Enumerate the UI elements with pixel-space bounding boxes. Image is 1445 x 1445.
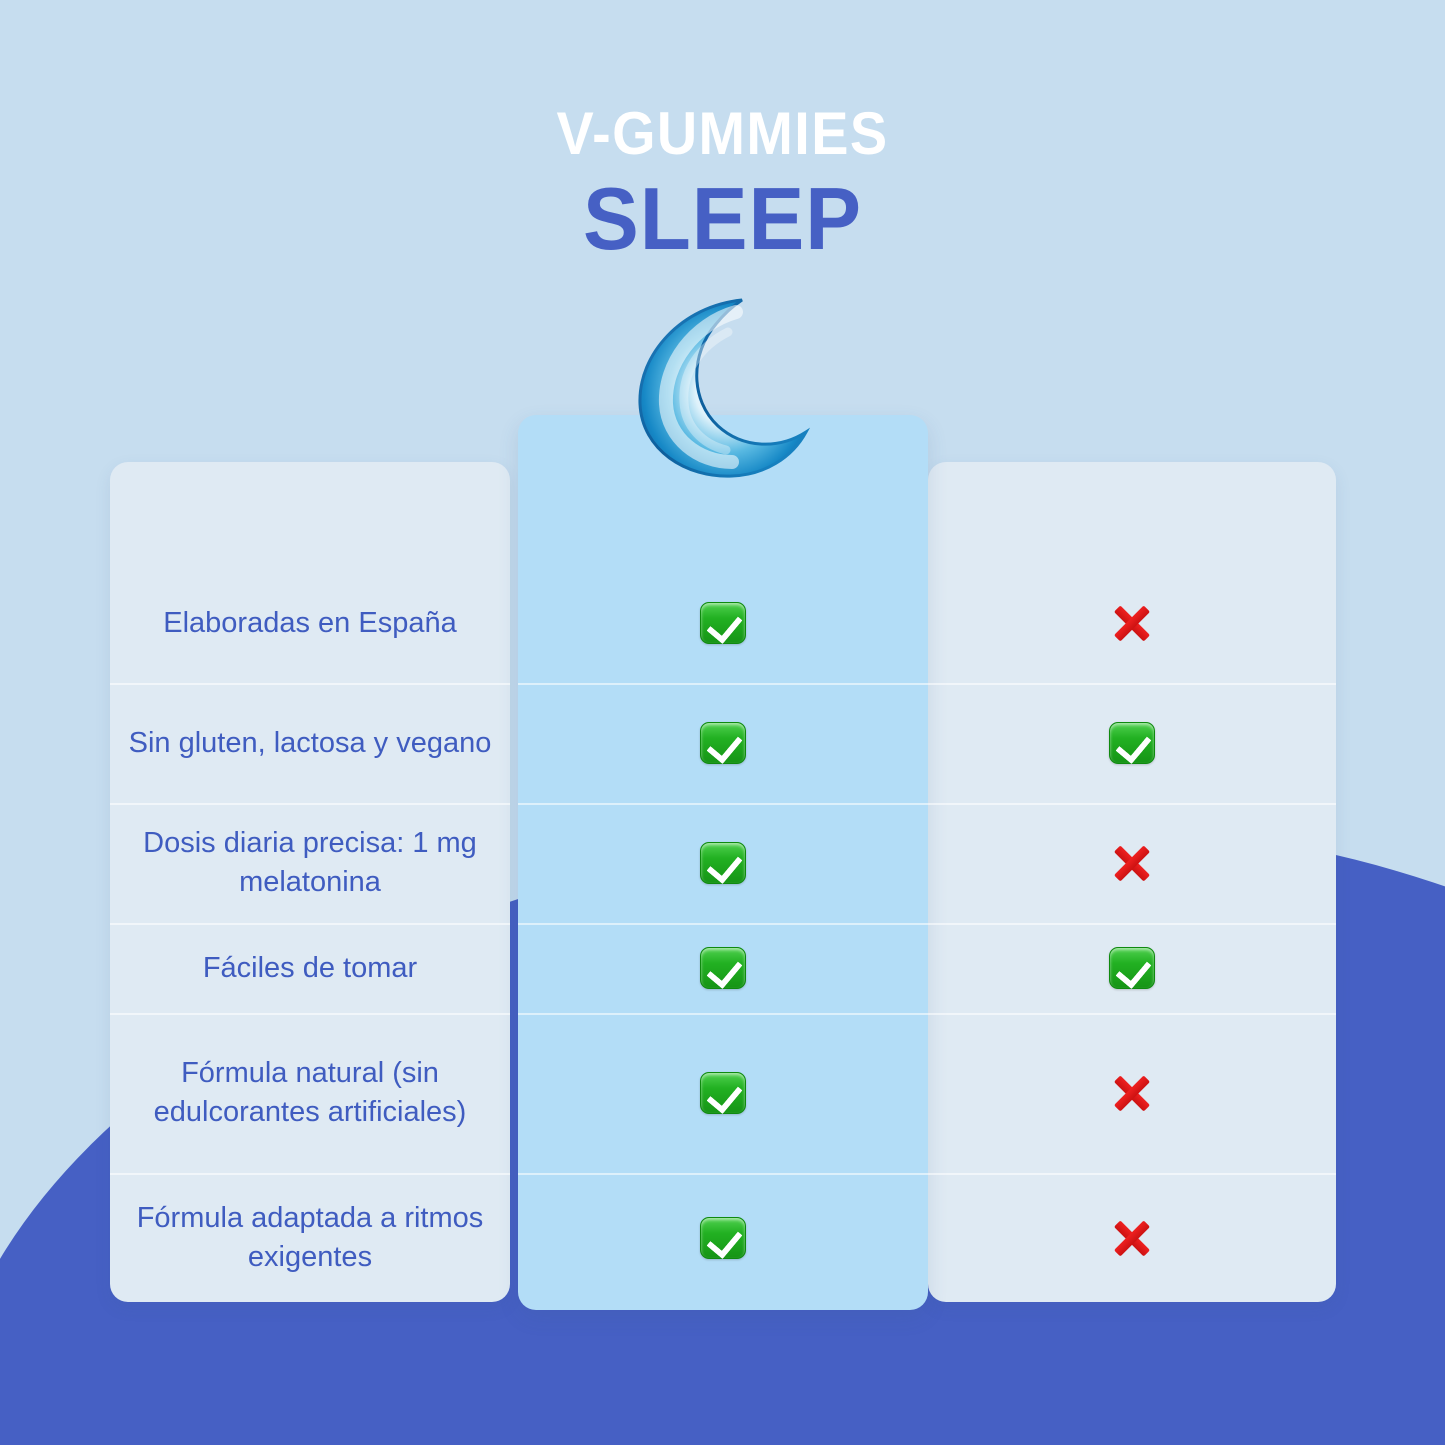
our-product-mark <box>518 923 928 1013</box>
check-icon <box>700 842 746 884</box>
brand-name: V-GUMMIES <box>51 104 1395 164</box>
check-icon <box>700 602 746 644</box>
title-block: V-GUMMIES SLEEP <box>0 104 1445 265</box>
others-mark <box>928 1013 1336 1173</box>
crescent-moon-gummy-icon <box>624 292 824 482</box>
check-icon <box>1109 722 1155 764</box>
comparison-infographic: V-GUMMIES SLEEP <box>0 0 1445 1445</box>
table-row: Fórmula adaptada a ritmos exigentes <box>0 1173 1445 1303</box>
check-icon <box>700 947 746 989</box>
check-icon <box>700 1072 746 1114</box>
others-mark <box>928 923 1336 1013</box>
others-mark <box>928 683 1336 803</box>
feature-label: Fórmula adaptada a ritmos exigentes <box>110 1173 510 1303</box>
our-product-mark <box>518 1013 928 1173</box>
check-icon <box>700 722 746 764</box>
cross-icon <box>1108 1069 1156 1117</box>
table-row: Sin gluten, lactosa y vegano <box>0 683 1445 803</box>
feature-label: Fáciles de tomar <box>110 923 510 1013</box>
others-mark <box>928 1173 1336 1303</box>
feature-label: Sin gluten, lactosa y vegano <box>110 683 510 803</box>
product-name: SLEEP <box>36 172 1409 265</box>
others-mark <box>928 563 1336 683</box>
feature-label: Dosis diaria precisa: 1 mg melatonina <box>110 803 510 923</box>
check-icon <box>1109 947 1155 989</box>
feature-label: Elaboradas en España <box>110 563 510 683</box>
our-product-mark <box>518 803 928 923</box>
others-mark <box>928 803 1336 923</box>
feature-label: Fórmula natural (sin edulcorantes artifi… <box>110 1013 510 1173</box>
table-row: Dosis diaria precisa: 1 mg melatonina <box>0 803 1445 923</box>
table-row: Elaboradas en España <box>0 563 1445 683</box>
our-product-mark <box>518 1173 928 1303</box>
cross-icon <box>1108 839 1156 887</box>
cross-icon <box>1108 1214 1156 1262</box>
table-row: Fáciles de tomar <box>0 923 1445 1013</box>
table-row: Fórmula natural (sin edulcorantes artifi… <box>0 1013 1445 1173</box>
check-icon <box>700 1217 746 1259</box>
our-product-mark <box>518 563 928 683</box>
our-product-mark <box>518 683 928 803</box>
cross-icon <box>1108 599 1156 647</box>
